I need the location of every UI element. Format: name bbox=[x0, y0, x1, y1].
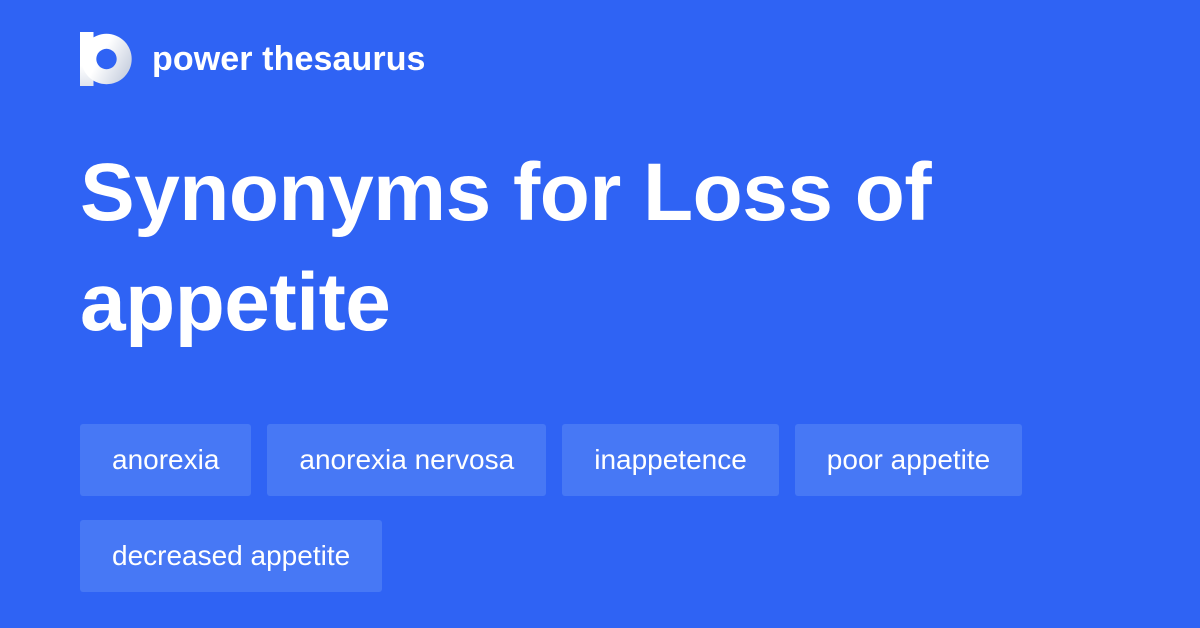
synonym-chip[interactable]: anorexia nervosa bbox=[267, 424, 546, 496]
synonym-chip-list: anorexiaanorexia nervosainappetencepoor … bbox=[80, 424, 1120, 592]
synonym-chip[interactable]: decreased appetite bbox=[80, 520, 382, 592]
brand-header[interactable]: power thesaurus bbox=[80, 30, 426, 88]
page-title: Synonyms for Loss of appetite bbox=[80, 138, 980, 358]
synonym-chip[interactable]: anorexia bbox=[80, 424, 251, 496]
synonym-chip[interactable]: poor appetite bbox=[795, 424, 1022, 496]
brand-name: power thesaurus bbox=[152, 42, 426, 76]
synonyms-share-card: power thesaurus Synonyms for Loss of app… bbox=[0, 0, 1200, 628]
synonym-chip[interactable]: inappetence bbox=[562, 424, 779, 496]
power-thesaurus-b-logo-icon bbox=[80, 32, 134, 86]
